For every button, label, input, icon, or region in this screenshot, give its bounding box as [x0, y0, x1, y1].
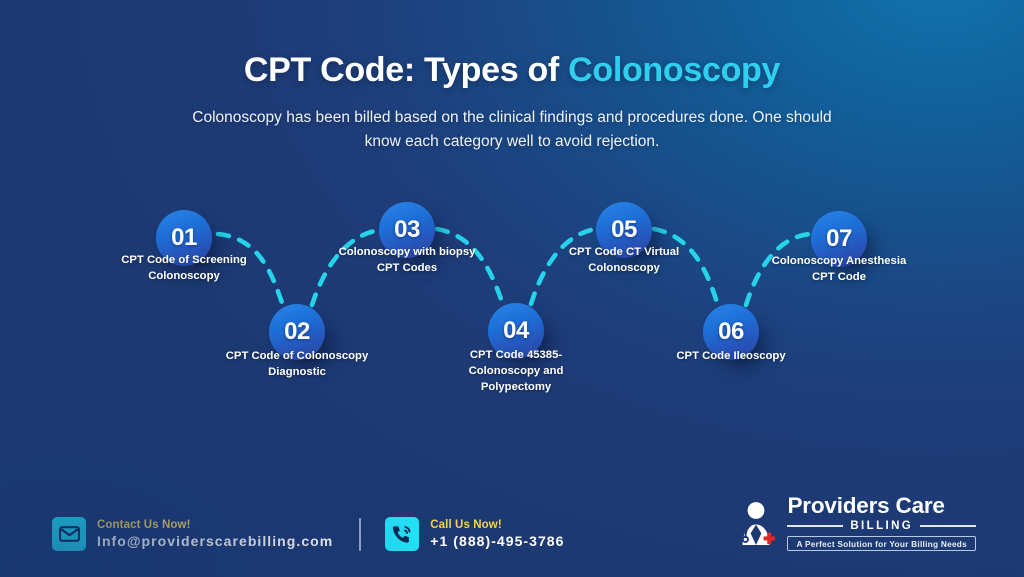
- node-label: Colonoscopy Anesthesia CPT Code: [764, 253, 914, 285]
- brand-tagline: A Perfect Solution for Your Billing Need…: [787, 536, 976, 551]
- node-label: CPT Code Ileoscopy: [656, 348, 806, 364]
- node-number: 02: [284, 318, 310, 346]
- node-label: CPT Code of Screening Colonoscopy: [109, 252, 259, 284]
- contact-group: Contact Us Now! Info@providerscarebillin…: [52, 517, 564, 551]
- envelope-icon: [52, 517, 86, 551]
- phone-call-icon: [385, 517, 419, 551]
- contact-phone-value[interactable]: +1 (888)-495-3786: [430, 532, 564, 550]
- contact-email-text: Contact Us Now! Info@providerscarebillin…: [97, 518, 333, 551]
- rule-left: [787, 525, 843, 527]
- node-number: 06: [718, 318, 744, 346]
- infographic-canvas: CPT Code: Types of Colonoscopy Colonosco…: [0, 0, 1024, 577]
- brand-logo-text: Providers Care BILLING A Perfect Solutio…: [787, 495, 976, 552]
- node-number: 04: [503, 317, 529, 345]
- contact-email-value[interactable]: Info@providerscarebilling.com: [97, 532, 333, 550]
- contact-phone-text: Call Us Now! +1 (888)-495-3786: [430, 518, 564, 551]
- timeline-node-04[interactable]: 04 CPT Code 45385-Colonoscopy and Polype…: [488, 303, 544, 359]
- timeline-node-02[interactable]: 02 CPT Code of Colonoscopy Diagnostic: [269, 304, 325, 360]
- brand-sub-row: BILLING: [787, 520, 976, 532]
- doctor-avatar-icon: [736, 500, 780, 546]
- timeline-node-01[interactable]: 01 CPT Code of Screening Colonoscopy: [156, 210, 212, 266]
- node-number: 05: [611, 216, 637, 244]
- timeline-node-06[interactable]: 06 CPT Code Ileoscopy: [703, 304, 759, 360]
- timeline-node-05[interactable]: 05 CPT Code CT Virtual Colonoscopy: [596, 202, 652, 258]
- node-label: CPT Code CT Virtual Colonoscopy: [549, 244, 699, 276]
- node-label: CPT Code 45385-Colonoscopy and Polypecto…: [441, 347, 591, 395]
- rule-right: [920, 525, 976, 527]
- brand-logo[interactable]: Providers Care BILLING A Perfect Solutio…: [736, 495, 976, 552]
- contact-email[interactable]: Contact Us Now! Info@providerscarebillin…: [52, 517, 333, 551]
- timeline-node-03[interactable]: 03 Colonoscopy with biopsy CPT Codes: [379, 202, 435, 258]
- brand-sub: BILLING: [850, 520, 913, 532]
- node-number: 07: [826, 225, 852, 253]
- node-label: Colonoscopy with biopsy CPT Codes: [332, 244, 482, 276]
- timeline-node-07[interactable]: 07 Colonoscopy Anesthesia CPT Code: [811, 211, 867, 267]
- contact-phone[interactable]: Call Us Now! +1 (888)-495-3786: [385, 517, 564, 551]
- node-label: CPT Code of Colonoscopy Diagnostic: [222, 348, 372, 380]
- footer: Contact Us Now! Info@providerscarebillin…: [0, 491, 1024, 577]
- brand-name: Providers Care: [787, 495, 976, 518]
- contact-phone-kicker: Call Us Now!: [430, 518, 564, 532]
- contact-email-kicker: Contact Us Now!: [97, 518, 333, 532]
- node-number: 03: [394, 216, 420, 244]
- node-number: 01: [171, 224, 197, 252]
- footer-divider: [359, 518, 361, 551]
